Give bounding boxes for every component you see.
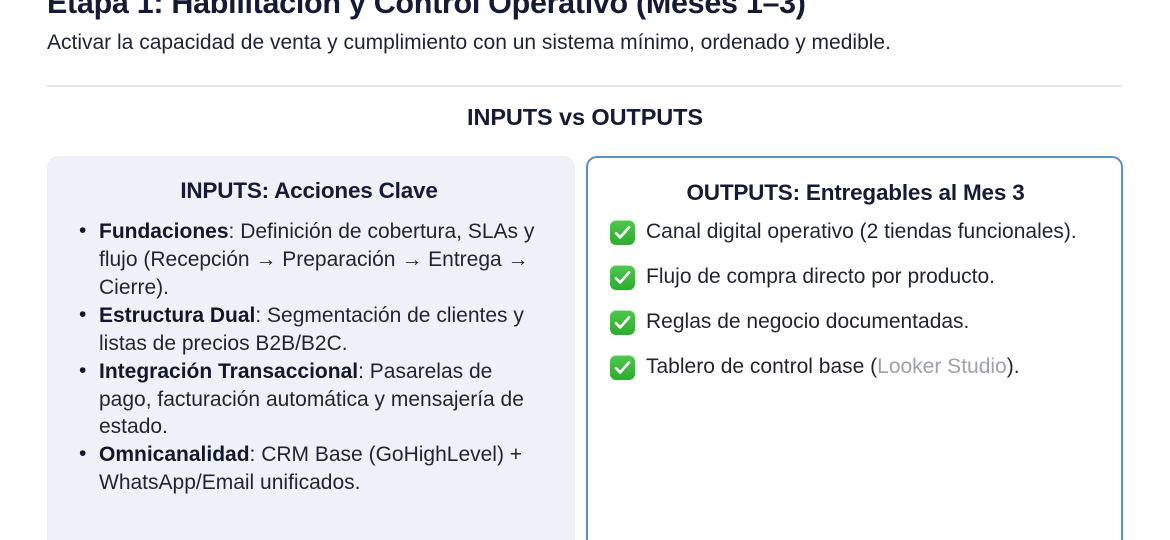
slide-header: Etapa 1: Habilitación y Control Operativ…	[47, 0, 1123, 56]
check-item-tail: ).	[1007, 355, 1020, 378]
check-item-main: Flujo de compra directo por producto.	[646, 265, 995, 288]
list-item: Estructura Dual: Segmentación de cliente…	[75, 302, 549, 358]
page-subtitle: Activar la capacidad de venta y cumplimi…	[47, 29, 1123, 56]
inputs-panel: INPUTS: Acciones Clave Fundaciones: Defi…	[47, 156, 575, 540]
list-item: Integración Transaccional: Pasarelas de …	[75, 358, 549, 442]
list-item: Flujo de compra directo por producto.	[610, 263, 1101, 291]
inputs-bullet-list: Fundaciones: Definición de cobertura, SL…	[69, 218, 549, 497]
slide-canvas: Etapa 1: Habilitación y Control Operativ…	[0, 0, 1170, 540]
list-item: Omnicanalidad: CRM Base (GoHighLevel) + …	[75, 441, 549, 497]
list-item: Fundaciones: Definición de cobertura, SL…	[75, 218, 549, 302]
outputs-panel-title: OUTPUTS: Entregables al Mes 3	[610, 180, 1101, 206]
list-item: Reglas de negocio documentadas.	[610, 308, 1101, 336]
check-item-main: Reglas de negocio documentadas.	[646, 310, 969, 333]
white-check-mark-icon	[610, 355, 635, 380]
check-item-text: Flujo de compra directo por producto.	[646, 263, 1101, 291]
header-divider	[47, 85, 1122, 87]
check-item-main: Canal digital operativo (2 tiendas funci…	[646, 220, 1077, 243]
check-item-text: Tablero de control base (Looker Studio).	[646, 353, 1101, 381]
outputs-check-list: Canal digital operativo (2 tiendas funci…	[610, 218, 1101, 381]
list-item: Tablero de control base (Looker Studio).	[610, 353, 1101, 381]
check-item-main: Tablero de control base (	[646, 355, 877, 378]
page-title: Etapa 1: Habilitación y Control Operativ…	[47, 0, 1123, 22]
bullet-lead: Omnicanalidad	[99, 443, 250, 466]
outputs-panel: OUTPUTS: Entregables al Mes 3 Canal digi…	[586, 156, 1123, 540]
check-item-muted: Looker Studio	[877, 355, 1007, 378]
white-check-mark-icon	[610, 265, 635, 290]
bullet-lead: Fundaciones	[99, 220, 229, 243]
white-check-mark-icon	[610, 310, 635, 335]
list-item: Canal digital operativo (2 tiendas funci…	[610, 218, 1101, 246]
white-check-mark-icon	[610, 220, 635, 245]
bullet-lead: Estructura Dual	[99, 304, 255, 327]
bullet-lead: Integración Transaccional	[99, 360, 358, 383]
check-item-text: Reglas de negocio documentadas.	[646, 308, 1101, 336]
check-item-text: Canal digital operativo (2 tiendas funci…	[646, 218, 1101, 246]
inputs-panel-title: INPUTS: Acciones Clave	[69, 178, 549, 204]
section-heading: INPUTS vs OUTPUTS	[0, 104, 1170, 131]
